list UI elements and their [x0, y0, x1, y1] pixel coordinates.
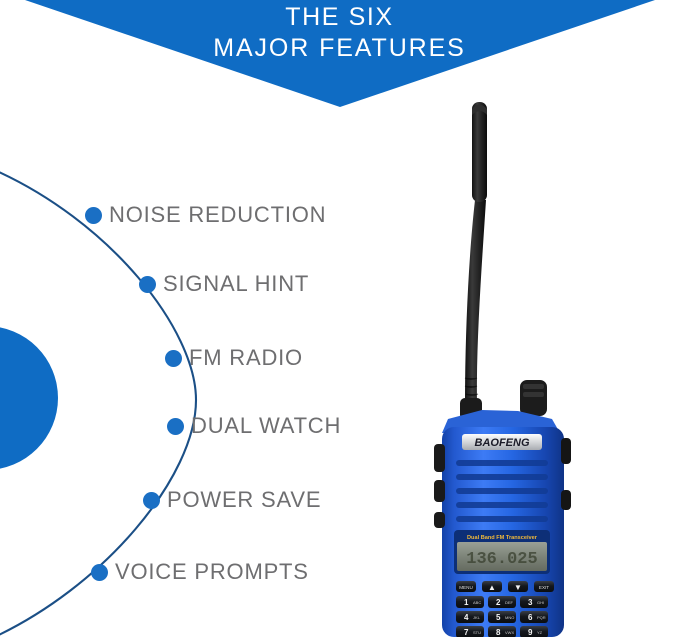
key-digit-sub: VWX	[505, 630, 514, 635]
feature-bullet-dot	[91, 564, 108, 581]
key-digit-label: 5	[496, 613, 501, 622]
key-digit-sub: DEF	[505, 600, 514, 605]
brand-name: BAOFENG	[475, 437, 530, 449]
feature-bullet-dot	[85, 207, 102, 224]
lcd-display: Dual Band FM Transceiver 136.025	[454, 530, 550, 574]
antenna	[460, 102, 487, 420]
key-digit-sub: PQR	[537, 615, 546, 620]
key-digit-sub: ABC	[473, 600, 481, 605]
key-up-label: ▲	[488, 583, 496, 592]
key-digit-label: 8	[496, 628, 501, 637]
feature-label: VOICE PROMPTS	[115, 560, 309, 584]
volume-knob[interactable]	[520, 380, 547, 416]
key-digit-label: 9	[528, 628, 533, 637]
key-down-label: ▼	[514, 583, 522, 592]
feature-label: POWER SAVE	[167, 488, 321, 512]
promo-page: THE SIX MAJOR FEATURES NOISE REDUCTION S…	[0, 0, 679, 637]
feature-item-noise-reduction[interactable]: NOISE REDUCTION	[85, 203, 326, 227]
product-image-walkie-talkie: BAOFENG Dual Band FM Transceiver 136.025…	[420, 92, 610, 637]
feature-item-voice-prompts[interactable]: VOICE PROMPTS	[91, 560, 309, 584]
key-digit-sub: YZ	[537, 630, 543, 635]
feature-item-power-save[interactable]: POWER SAVE	[143, 488, 321, 512]
key-digit-label: 4	[464, 613, 469, 622]
feature-label: FM RADIO	[189, 346, 303, 370]
key-digit-sub: JKL	[473, 615, 481, 620]
key-digit-label: 7	[464, 628, 469, 637]
keypad-number-row: 7 STU 8 VWX 9 YZ	[456, 626, 548, 637]
keypad-number-row: 1 ABC 2 DEF 3 GHI	[456, 596, 548, 608]
key-exit-label: EXIT	[539, 585, 549, 590]
key-digit-sub: STU	[473, 630, 481, 635]
page-title: THE SIX MAJOR FEATURES	[0, 2, 679, 64]
feature-item-signal-hint[interactable]: SIGNAL HINT	[139, 272, 309, 296]
key-digit-label: 1	[464, 598, 469, 607]
decorative-blue-circle	[0, 326, 58, 470]
feature-bullet-dot	[165, 350, 182, 367]
feature-label: DUAL WATCH	[191, 414, 341, 438]
feature-label: SIGNAL HINT	[163, 272, 309, 296]
feature-bullet-dot	[167, 418, 184, 435]
key-digit-label: 2	[496, 598, 501, 607]
feature-label: NOISE REDUCTION	[109, 203, 326, 227]
keypad-number-row: 4 JKL 5 MNO 6 PQR	[456, 611, 548, 623]
feature-item-dual-watch[interactable]: DUAL WATCH	[167, 414, 341, 438]
display-frequency: 136.025	[466, 550, 537, 569]
key-menu-label: MENU	[459, 585, 473, 590]
key-digit-label: 6	[528, 613, 533, 622]
key-digit-sub: GHI	[537, 600, 544, 605]
title-line-1: THE SIX	[0, 2, 679, 33]
brand-plate: BAOFENG	[462, 434, 542, 450]
feature-item-fm-radio[interactable]: FM RADIO	[165, 346, 303, 370]
key-digit-label: 3	[528, 598, 533, 607]
feature-bullet-dot	[139, 276, 156, 293]
side-buttons[interactable]	[434, 444, 445, 528]
key-digit	[520, 626, 548, 637]
key-digit-sub: MNO	[505, 615, 514, 620]
display-subtitle: Dual Band FM Transceiver	[467, 535, 538, 541]
title-line-2: MAJOR FEATURES	[0, 33, 679, 64]
feature-bullet-dot	[143, 492, 160, 509]
